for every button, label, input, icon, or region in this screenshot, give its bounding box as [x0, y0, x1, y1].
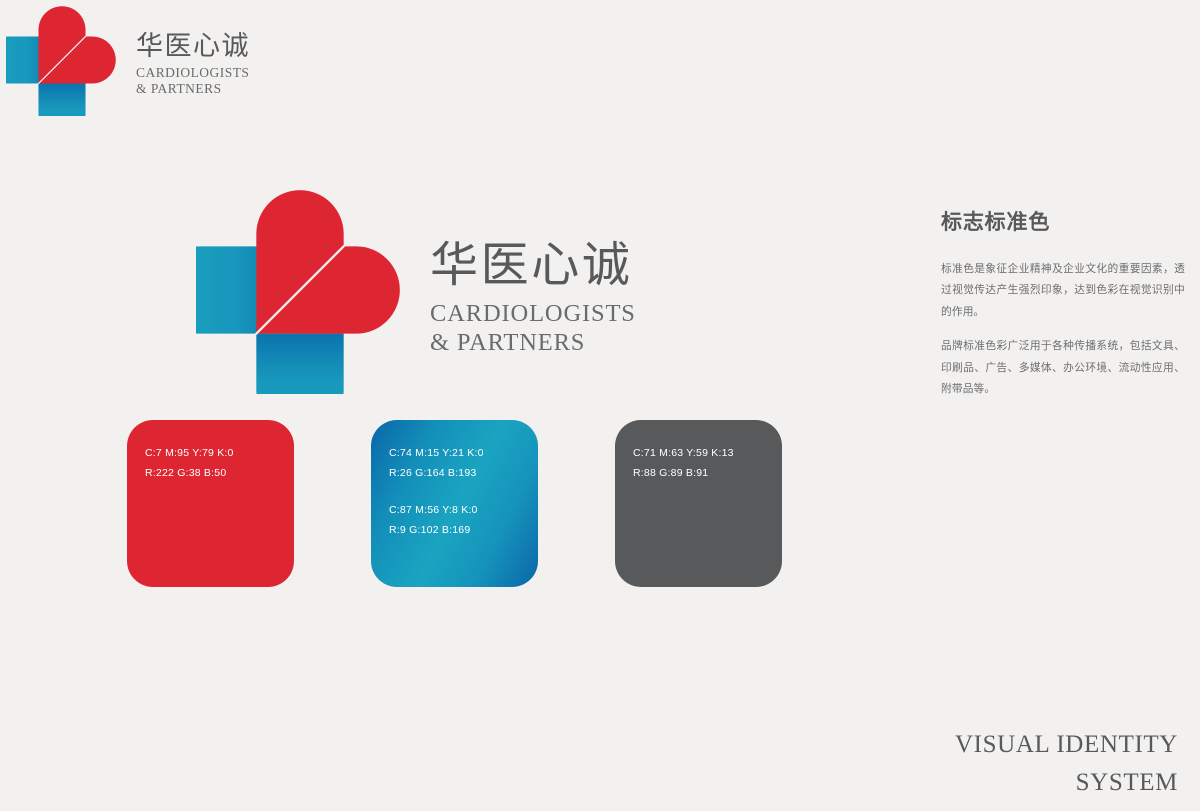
color-swatch-row: C:7 M:95 Y:79 K:0 R:222 G:38 B:50 C:74 M… — [127, 420, 782, 587]
header-name-en: CARDIOLOGISTS & PARTNERS — [136, 65, 250, 97]
color-spec-group: C:7 M:95 Y:79 K:0 R:222 G:38 B:50 — [145, 443, 294, 484]
footer-line-2: SYSTEM — [955, 764, 1178, 803]
cmyk-value: C:74 M:15 Y:21 K:0 — [389, 443, 538, 463]
header-name-en-line2: & PARTNERS — [136, 81, 250, 97]
color-swatch-brand-red: C:7 M:95 Y:79 K:0 R:222 G:38 B:50 — [127, 420, 294, 587]
rgb-value: R:9 G:102 B:169 — [389, 520, 538, 540]
copy-panel: 标志标准色 标准色是象征企业精神及企业文化的重要因素，透过视觉传达产生强烈印象，… — [941, 206, 1185, 400]
header-name-en-line1: CARDIOLOGISTS — [136, 65, 250, 81]
cmyk-value: C:87 M:56 Y:8 K:0 — [389, 500, 538, 520]
cmyk-value: C:7 M:95 Y:79 K:0 — [145, 443, 294, 463]
rgb-value: R:222 G:38 B:50 — [145, 463, 294, 483]
rgb-value: R:26 G:164 B:193 — [389, 463, 538, 483]
color-swatch-brand-gray: C:71 M:63 Y:59 K:13 R:88 G:89 B:91 — [615, 420, 782, 587]
heart-cross-pinwheel-logo-icon — [196, 186, 404, 394]
header-brand-lockup: 华医心诚 CARDIOLOGISTS & PARTNERS — [6, 4, 250, 116]
section-heading: 标志标准色 — [941, 206, 1185, 236]
main-name-en-line1: CARDIOLOGISTS — [430, 300, 636, 329]
color-spec-group: C:87 M:56 Y:8 K:0 R:9 G:102 B:169 — [389, 500, 538, 541]
main-name-cn: 华医心诚 — [430, 225, 636, 295]
main-wordmark: 华医心诚 CARDIOLOGISTS & PARTNERS — [430, 225, 636, 358]
color-swatch-brand-blue: C:74 M:15 Y:21 K:0 R:26 G:164 B:193 C:87… — [371, 420, 538, 587]
color-spec-group: C:71 M:63 Y:59 K:13 R:88 G:89 B:91 — [633, 443, 782, 484]
header-wordmark: 华医心诚 CARDIOLOGISTS & PARTNERS — [136, 24, 250, 97]
header-name-cn: 华医心诚 — [136, 24, 250, 63]
main-name-en: CARDIOLOGISTS & PARTNERS — [430, 300, 636, 358]
main-brand-lockup: 华医心诚 CARDIOLOGISTS & PARTNERS — [196, 186, 636, 394]
main-name-en-line2: & PARTNERS — [430, 329, 636, 358]
heart-cross-pinwheel-logo-icon — [6, 4, 118, 116]
rgb-value: R:88 G:89 B:91 — [633, 463, 782, 483]
copy-paragraph-2: 品牌标准色彩广泛用于各种传播系统，包括文具、印刷品、广告、多媒体、办公环境、流动… — [941, 336, 1185, 400]
cmyk-value: C:71 M:63 Y:59 K:13 — [633, 443, 782, 463]
color-spec-group: C:74 M:15 Y:21 K:0 R:26 G:164 B:193 — [389, 443, 538, 484]
footer-line-1: VISUAL IDENTITY — [955, 726, 1178, 765]
visual-identity-system-footer: VISUAL IDENTITY SYSTEM — [955, 726, 1178, 804]
copy-paragraph-1: 标准色是象征企业精神及企业文化的重要因素，透过视觉传达产生强烈印象，达到色彩在视… — [941, 259, 1185, 323]
